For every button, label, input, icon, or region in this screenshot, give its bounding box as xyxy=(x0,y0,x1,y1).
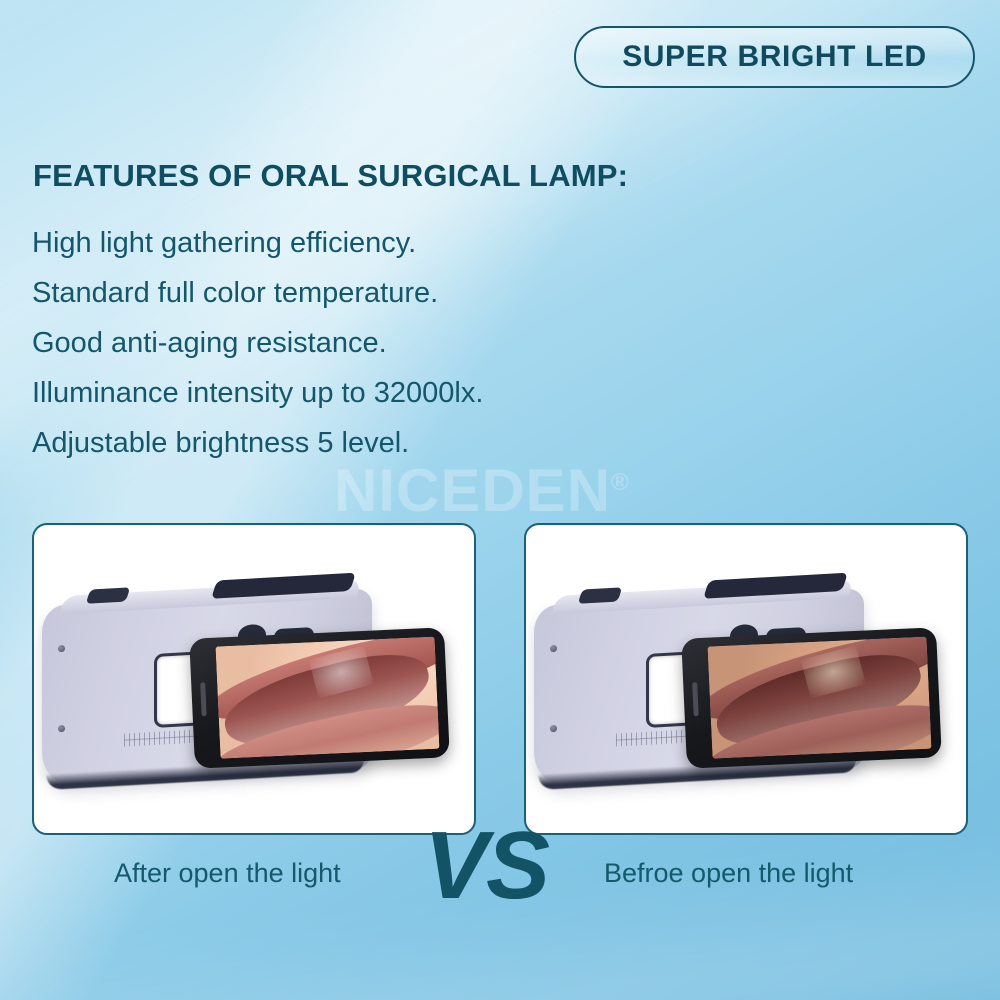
phone-screen-bright xyxy=(216,637,440,759)
device-screw xyxy=(58,725,65,732)
product-feature-banner: NICEDEN® SUPER BRIGHT LED FEATURES OF OR… xyxy=(0,0,1000,1000)
caption-before-light: Befroe open the light xyxy=(604,858,853,889)
product-photo-light-off xyxy=(526,525,966,833)
tooth xyxy=(296,673,317,683)
phone-speaker-slot xyxy=(200,682,207,716)
tooth xyxy=(765,684,786,694)
vs-separator: VS xyxy=(424,818,548,914)
smartphone-mounted xyxy=(189,627,450,768)
caption-after-light: After open the light xyxy=(114,858,341,889)
tooth xyxy=(273,684,294,694)
product-photo-light-on xyxy=(34,525,474,833)
phone-screen-dim xyxy=(708,637,932,759)
photo-card-after-light xyxy=(32,523,476,835)
device-screw xyxy=(550,645,557,652)
photo-card-before-light xyxy=(524,523,968,835)
device-screw xyxy=(550,725,557,732)
smartphone-mounted xyxy=(681,627,942,768)
teeth-photo-dim xyxy=(708,637,932,759)
tooth xyxy=(742,695,763,705)
phone-speaker-slot xyxy=(692,682,699,716)
teeth-photo-bright xyxy=(216,637,440,759)
device-screw xyxy=(58,645,65,652)
tooth xyxy=(788,673,809,683)
tooth xyxy=(250,695,271,705)
